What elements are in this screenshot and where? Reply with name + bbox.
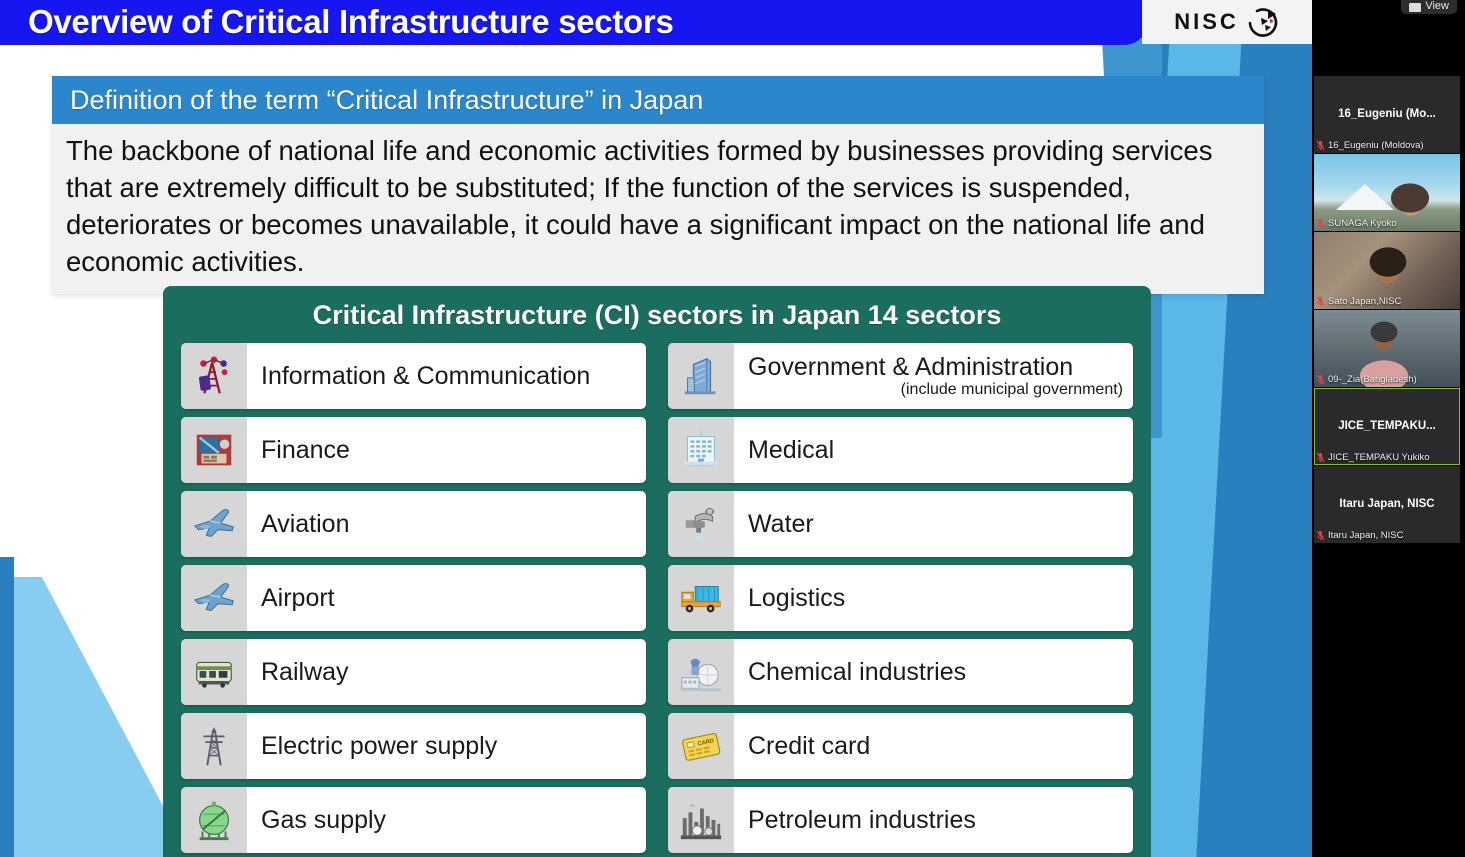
participant-name-label: Itaru Japan, NISC: [1328, 530, 1404, 541]
sector-item: Aviation: [181, 491, 646, 557]
sectors-right-column: Government & Administration(include muni…: [668, 343, 1133, 853]
participant-tile[interactable]: 16_Eugeniu (Mo...16_Eugeniu (Moldova): [1314, 76, 1460, 153]
pylon-icon: [181, 713, 247, 779]
truck-icon: [668, 565, 734, 631]
sector-label-wrap: Credit card: [734, 713, 1133, 779]
nisc-logo-word: NISC: [1174, 9, 1239, 35]
microphone-muted-icon: [1316, 530, 1325, 541]
sector-label-wrap: Airport: [247, 565, 646, 631]
sector-label-wrap: Petroleum industries: [734, 787, 1133, 853]
chemical-plant-icon: [668, 639, 734, 705]
participant-name-label: Sato Japan,NISC: [1328, 296, 1401, 307]
sector-label-wrap: Electric power supply: [247, 713, 646, 779]
participant-tile-list: 16_Eugeniu (Mo...16_Eugeniu (Moldova)SUN…: [1314, 76, 1460, 544]
office-building-icon: [668, 343, 734, 409]
participant-tile[interactable]: SUNAGA Kyoko: [1314, 154, 1460, 231]
sector-item: Water: [668, 491, 1133, 557]
participant-name-badge: Itaru Japan, NISC: [1316, 530, 1404, 541]
sector-item: Railway: [181, 639, 646, 705]
banknote-icon: [181, 417, 247, 483]
background-wedge-left-bar: [0, 557, 14, 857]
sector-item: Airport: [181, 565, 646, 631]
sector-label-wrap: Information & Communication: [247, 343, 646, 409]
participant-tile[interactable]: Sato Japan,NISC: [1314, 232, 1460, 309]
sector-item: Medical: [668, 417, 1133, 483]
sector-label: Government & Administration: [748, 354, 1123, 380]
participant-name-label: SUNAGA Kyoko: [1328, 218, 1397, 229]
page-title: Overview of Critical Infrastructure sect…: [28, 0, 674, 45]
participant-display-name-large: JICE_TEMPAKU...: [1314, 419, 1460, 431]
sector-sublabel: (include municipal government): [748, 381, 1123, 399]
participant-name-label: 09-_Zia(Bangladesh): [1328, 374, 1417, 385]
sector-label-wrap: Logistics: [734, 565, 1133, 631]
sector-label-wrap: Water: [734, 491, 1133, 557]
refinery-icon: [668, 787, 734, 853]
sector-item: Logistics: [668, 565, 1133, 631]
definition-body: The backbone of national life and econom…: [52, 124, 1264, 294]
antenna-tower-icon: [181, 343, 247, 409]
participant-tile[interactable]: 09-_Zia(Bangladesh): [1314, 310, 1460, 387]
background-wedge-left-light: [0, 577, 190, 857]
train-icon: [181, 639, 247, 705]
participant-name-badge: SUNAGA Kyoko: [1316, 218, 1397, 229]
microphone-muted-icon: [1316, 140, 1325, 151]
sector-label: Credit card: [748, 733, 1123, 759]
sectors-panel: Critical Infrastructure (CI) sectors in …: [163, 286, 1151, 857]
sector-label: Medical: [748, 437, 1123, 463]
airplane-icon: [181, 565, 247, 631]
layout-grid-icon: [1409, 3, 1421, 12]
sector-label-wrap: Railway: [247, 639, 646, 705]
sector-label-wrap: Aviation: [247, 491, 646, 557]
sector-label: Chemical industries: [748, 659, 1123, 685]
participant-name-badge: JICE_TEMPAKU Yukiko: [1316, 452, 1430, 463]
participant-display-name-large: 16_Eugeniu (Mo...: [1314, 107, 1460, 119]
participant-display-name-large: Itaru Japan, NISC: [1314, 497, 1460, 509]
sector-label: Airport: [261, 585, 636, 611]
hospital-icon: [668, 417, 734, 483]
participant-name-label: 16_Eugeniu (Moldova): [1328, 140, 1424, 151]
sector-label: Finance: [261, 437, 636, 463]
zoom-meeting-window: Overview of Critical Infrastructure sect…: [0, 0, 1465, 857]
microphone-muted-icon: [1316, 452, 1325, 463]
sector-label-wrap: Finance: [247, 417, 646, 483]
sector-item: Petroleum industries: [668, 787, 1133, 853]
faucet-icon: [668, 491, 734, 557]
sector-label-wrap: Gas supply: [247, 787, 646, 853]
microphone-muted-icon: [1316, 374, 1325, 385]
slide-title-bar: Overview of Critical Infrastructure sect…: [0, 0, 1148, 45]
sectors-panel-title: Critical Infrastructure (CI) sectors in …: [181, 298, 1133, 343]
nisc-logo: NISC: [1142, 0, 1312, 44]
participant-name-badge: Sato Japan,NISC: [1316, 296, 1401, 307]
sector-item: CARDCredit card: [668, 713, 1133, 779]
participant-name-badge: 16_Eugeniu (Moldova): [1316, 140, 1424, 151]
sectors-left-column: Information & CommunicationFinanceAviati…: [181, 343, 646, 853]
shared-screen-slide[interactable]: Overview of Critical Infrastructure sect…: [0, 0, 1312, 857]
sector-item: Government & Administration(include muni…: [668, 343, 1133, 409]
sector-item: Finance: [181, 417, 646, 483]
participant-name-badge: 09-_Zia(Bangladesh): [1316, 374, 1417, 385]
view-button[interactable]: View: [1401, 0, 1457, 14]
sector-item: Gas supply: [181, 787, 646, 853]
microphone-muted-icon: [1316, 218, 1325, 229]
sector-label-wrap: Chemical industries: [734, 639, 1133, 705]
sector-label: Railway: [261, 659, 636, 685]
sector-label: Gas supply: [261, 807, 636, 833]
sector-item: Electric power supply: [181, 713, 646, 779]
sector-label: Petroleum industries: [748, 807, 1123, 833]
sector-item: Chemical industries: [668, 639, 1133, 705]
microphone-muted-icon: [1316, 296, 1325, 307]
participants-rail: View 16_Eugeniu (Mo...16_Eugeniu (Moldov…: [1312, 0, 1465, 857]
gas-tank-icon: [181, 787, 247, 853]
sector-label: Electric power supply: [261, 733, 636, 759]
participant-tile[interactable]: JICE_TEMPAKU...JICE_TEMPAKU Yukiko: [1314, 388, 1460, 465]
nisc-swirl-icon: [1246, 5, 1280, 39]
airplane-icon: [181, 491, 247, 557]
view-button-label: View: [1425, 0, 1449, 12]
sector-label-wrap: Government & Administration(include muni…: [734, 343, 1133, 409]
sector-label: Information & Communication: [261, 363, 636, 389]
definition-card: Definition of the term “Critical Infrast…: [52, 76, 1264, 294]
credit-card-icon: CARD: [668, 713, 734, 779]
sector-item: Information & Communication: [181, 343, 646, 409]
sector-label-wrap: Medical: [734, 417, 1133, 483]
sector-label: Aviation: [261, 511, 636, 537]
sector-label: Water: [748, 511, 1123, 537]
participant-tile[interactable]: Itaru Japan, NISCItaru Japan, NISC: [1314, 466, 1460, 543]
definition-heading: Definition of the term “Critical Infrast…: [52, 76, 1264, 124]
participant-name-label: JICE_TEMPAKU Yukiko: [1328, 452, 1430, 463]
sector-label: Logistics: [748, 585, 1123, 611]
